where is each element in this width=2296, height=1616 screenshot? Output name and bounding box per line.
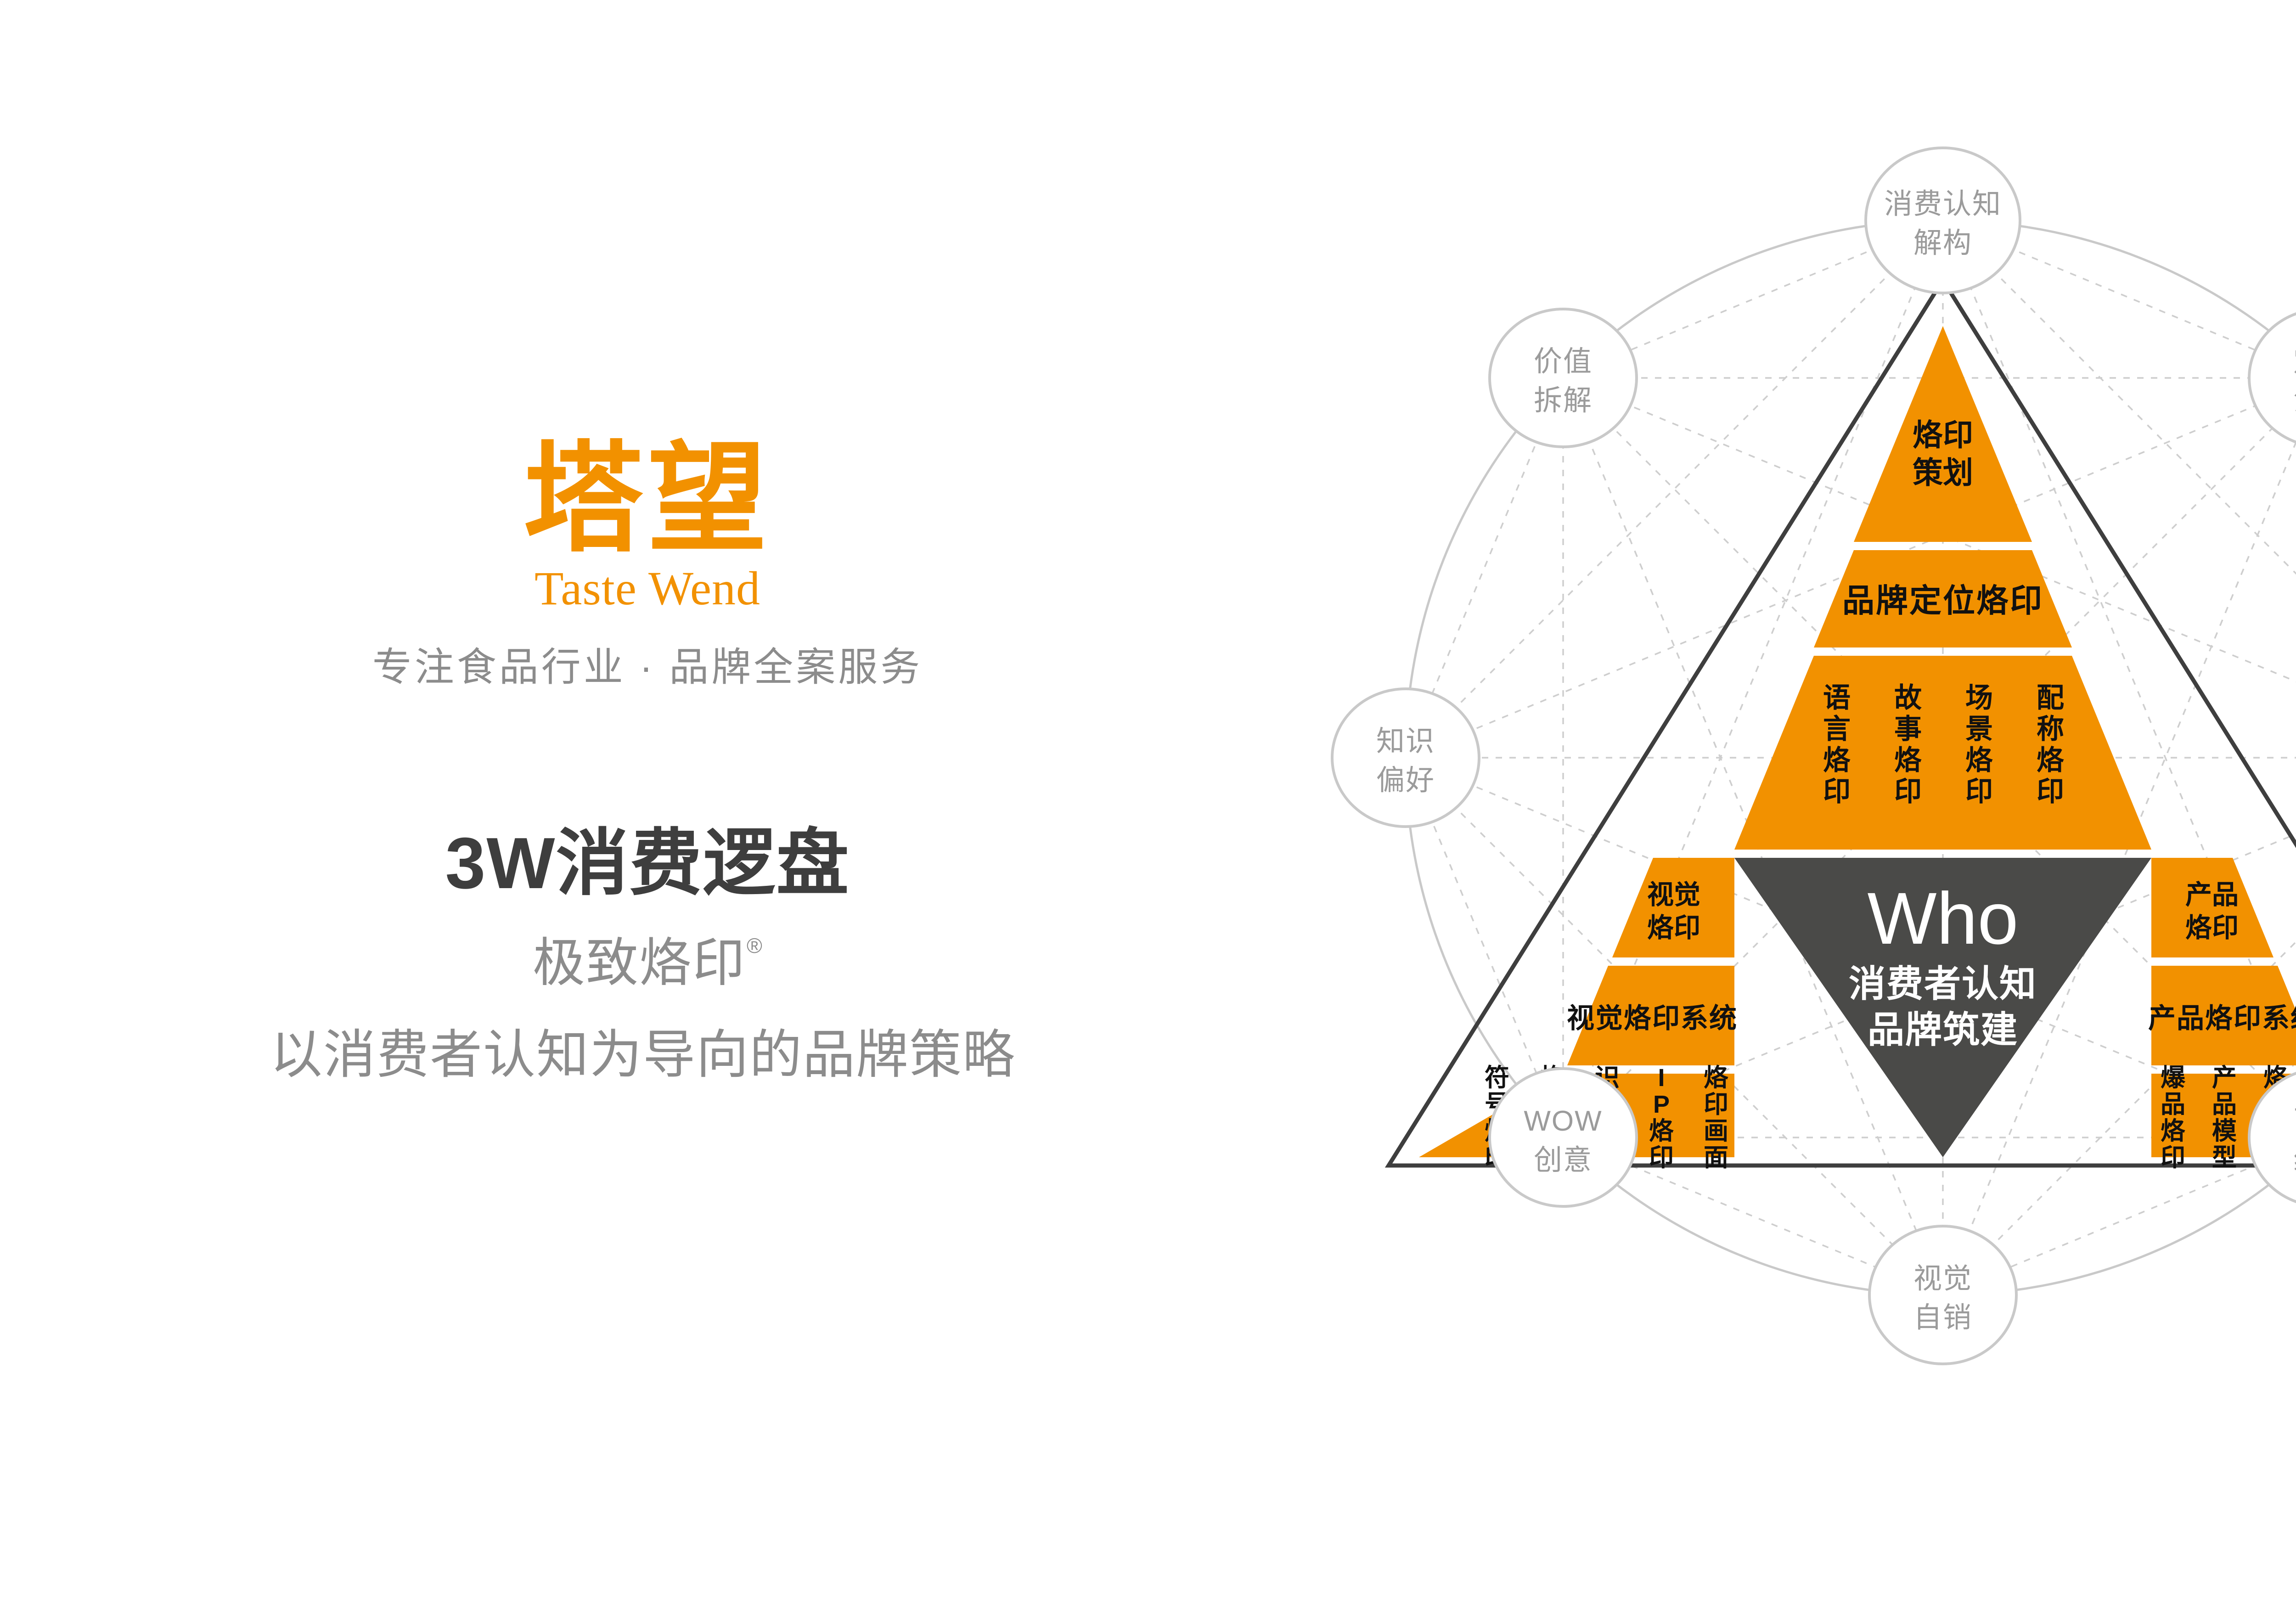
subtitle-main-text: 极致烙印 bbox=[533, 934, 746, 992]
registered-mark-icon: ® bbox=[747, 934, 763, 957]
left-tier-3-item-4: 烙印画面 bbox=[1704, 1064, 1728, 1171]
tier-top-label-line1: 烙印 bbox=[1913, 418, 1973, 452]
outer-node-bottom-label-1: 视觉 bbox=[1913, 1263, 1972, 1295]
left-tier-1-label-line1: 视觉 bbox=[1647, 880, 1700, 910]
tier-top-label-line2: 策划 bbox=[1913, 456, 1973, 490]
outer-node-top-label-2: 解构 bbox=[1913, 227, 1972, 259]
outer-node-top-left[interactable]: 价值 拆解 bbox=[1490, 309, 1637, 447]
outer-node-left-label-2: 偏好 bbox=[1376, 765, 1435, 796]
outer-node-top-right-label-2: 法则 bbox=[2293, 385, 2296, 417]
outer-node-top-right-label-1: 定位 bbox=[2293, 346, 2296, 377]
tier-2-label: 品牌定位烙印 bbox=[1842, 583, 2043, 619]
outer-node-top[interactable]: 消费认知 解构 bbox=[1866, 148, 2020, 293]
outer-node-top-label-1: 消费认知 bbox=[1884, 188, 2002, 220]
outer-node-bottom-label-2: 自销 bbox=[1913, 1302, 1972, 1334]
subtitle-trademark-line: 极致烙印® bbox=[197, 932, 1097, 995]
center-line-2: 品牌筑建 bbox=[1868, 1009, 2018, 1050]
tier-3-item-1: 故事烙印 bbox=[1894, 682, 1922, 807]
outer-node-bottom-circle[interactable] bbox=[1869, 1226, 2016, 1364]
outer-node-top-left-circle[interactable] bbox=[1490, 309, 1637, 447]
outer-node-left-label-1: 知识 bbox=[1376, 726, 1435, 757]
outer-node-bottom-left-label-2: 创意 bbox=[1534, 1144, 1593, 1176]
outer-node-top-left-label-2: 拆解 bbox=[1534, 385, 1593, 417]
diagram-svg: 烙印 策划 品牌定位烙印 语言烙印 故事烙印 场景烙印 配称烙印 视觉 烙印 视… bbox=[1148, 69, 2296, 1515]
subtitle-description: 以消费者认知为导向的品牌策略 bbox=[138, 1024, 1148, 1087]
logo-chinese-mark: 塔望 bbox=[501, 439, 794, 560]
outer-node-bottom-left-circle[interactable] bbox=[1490, 1069, 1637, 1206]
brand-logo: 塔望 Taste Wend bbox=[501, 439, 794, 613]
right-tier-3-item-1: 产品模型 bbox=[2212, 1064, 2237, 1171]
tier-3-item-0: 语言烙印 bbox=[1823, 682, 1851, 807]
outer-node-bottom[interactable]: 视觉 自销 bbox=[1869, 1226, 2016, 1364]
tier-3-item-2: 场景烙印 bbox=[1965, 682, 1993, 807]
logo-english-name: Taste Wend bbox=[501, 565, 794, 613]
outer-node-bottom-left[interactable]: WOW 创意 bbox=[1490, 1069, 1637, 1206]
right-tier-3-item-0: 爆品烙印 bbox=[2161, 1064, 2186, 1171]
center-who-title: Who bbox=[1868, 877, 2019, 959]
right-tier-2-label: 产品烙印系统 bbox=[2148, 1003, 2296, 1034]
outer-node-top-left-label-1: 价值 bbox=[1534, 346, 1593, 377]
outer-node-top-right[interactable]: 定位 法则 bbox=[2249, 309, 2296, 447]
right-tier-1-label-line1: 产品 bbox=[2185, 880, 2239, 910]
outer-node-bottom-left-label-1: WOW bbox=[1524, 1105, 1602, 1137]
slide-canvas: 塔望 Taste Wend 专注食品行业 · 品牌全案服务 3W消费逻盘 极致烙… bbox=[0, 0, 2296, 1616]
outer-node-top-right-circle[interactable] bbox=[2249, 309, 2296, 447]
pyramid-tier-3[interactable] bbox=[1734, 656, 2151, 850]
tier-3-item-3: 配称烙印 bbox=[2037, 682, 2064, 807]
left-tier-2-label: 视觉烙印系统 bbox=[1567, 1003, 1738, 1034]
outer-node-bottom-right-label-1: 飞机 bbox=[2293, 1105, 2296, 1137]
outer-node-bottom-right-label-2: 组合 bbox=[2293, 1144, 2296, 1176]
left-text-panel: 塔望 Taste Wend 专注食品行业 · 品牌全案服务 3W消费逻盘 极致烙… bbox=[0, 0, 1148, 1616]
page-title: 3W消费逻盘 bbox=[197, 822, 1097, 906]
pyramid-circle-diagram: 烙印 策划 品牌定位烙印 语言烙印 故事烙印 场景烙印 配称烙印 视觉 烙印 视… bbox=[1148, 69, 2296, 1515]
outer-node-left-circle[interactable] bbox=[1332, 689, 1479, 827]
center-line-1: 消费者认知 bbox=[1849, 963, 2037, 1004]
brand-tagline: 专注食品行业 · 品牌全案服务 bbox=[257, 643, 1038, 693]
outer-node-top-circle[interactable] bbox=[1866, 148, 2020, 293]
left-tier-1-label-line2: 烙印 bbox=[1647, 913, 1700, 943]
right-tier-1-label-line2: 烙印 bbox=[2185, 913, 2239, 943]
outer-node-left[interactable]: 知识 偏好 bbox=[1332, 689, 1479, 827]
